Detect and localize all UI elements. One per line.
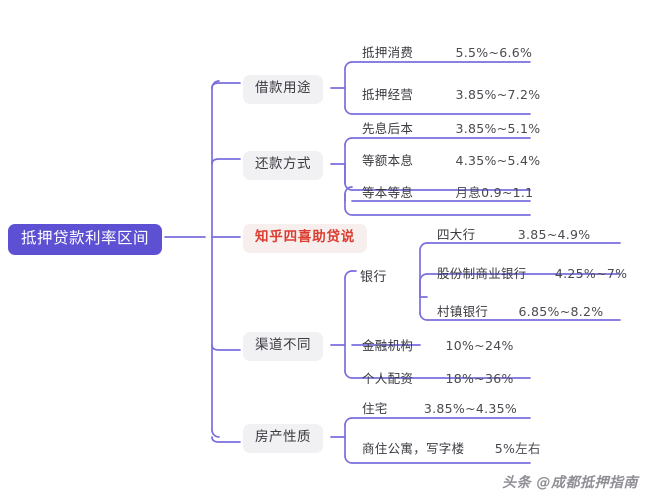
leaf-label: 等额本息 (362, 153, 413, 168)
leaf-value: 3.85%~4.35% (424, 401, 517, 416)
leaf-node[interactable]: 股份制商业银行 4.25%~7% (433, 265, 631, 287)
leaf-value: 4.25%~7% (555, 266, 627, 281)
leaf-label: 抵押消费 (362, 45, 413, 60)
branch-node-loan-purpose[interactable]: 借款用途 (243, 75, 323, 104)
leaf-node[interactable]: 等本等息 月息0.9~1.1 (358, 184, 537, 206)
leaf-label: 商住公寓，写字楼 (362, 441, 464, 456)
leaf-value: 6.85%~8.2% (518, 304, 603, 319)
leaf-node[interactable]: 抵押经营 3.85%~7.2% (358, 86, 544, 108)
leaf-node[interactable]: 等额本息 4.35%~5.4% (358, 152, 544, 174)
leaf-value: 月息0.9~1.1 (455, 185, 533, 200)
leaf-node[interactable]: 个人配资 18%~36% (358, 370, 518, 392)
leaf-value: 4.35%~5.4% (455, 153, 540, 168)
mindmap-canvas: 抵押贷款利率区间 借款用途 还款方式 知乎四喜助贷说 渠道不同 房产性质 抵押消… (0, 0, 650, 500)
leaf-label: 股份制商业银行 (437, 266, 527, 281)
leaf-node[interactable]: 商住公寓，写字楼 5%左右 (358, 440, 545, 462)
leaf-value: 10%~24% (445, 338, 513, 353)
leaf-value: 5.5%~6.6% (455, 45, 532, 60)
branch-node-brand-note[interactable]: 知乎四喜助贷说 (243, 224, 367, 253)
leaf-label: 村镇银行 (437, 304, 488, 319)
leaf-value: 5%左右 (495, 441, 541, 456)
leaf-label: 金融机构 (362, 338, 413, 353)
leaf-value: 3.85~4.9% (518, 227, 591, 242)
group-node-bank[interactable]: 银行 (358, 268, 389, 289)
branch-node-repayment-method[interactable]: 还款方式 (243, 151, 323, 180)
leaf-value: 3.85%~7.2% (455, 87, 540, 102)
leaf-label: 先息后本 (362, 121, 413, 136)
leaf-value: 3.85%~5.1% (455, 121, 540, 136)
leaf-node[interactable]: 先息后本 3.85%~5.1% (358, 120, 544, 142)
leaf-node[interactable]: 金融机构 10%~24% (358, 337, 518, 359)
branch-node-property-type[interactable]: 房产性质 (243, 424, 323, 453)
leaf-node[interactable]: 抵押消费 5.5%~6.6% (358, 44, 536, 66)
leaf-label: 等本等息 (362, 185, 413, 200)
leaf-node[interactable]: 住宅 3.85%~4.35% (358, 400, 521, 422)
leaf-label: 住宅 (362, 401, 388, 416)
leaf-value: 18%~36% (445, 371, 513, 386)
leaf-label: 个人配资 (362, 371, 413, 386)
leaf-node[interactable]: 村镇银行 6.85%~8.2% (433, 303, 607, 325)
branch-node-channel[interactable]: 渠道不同 (243, 332, 323, 361)
leaf-label: 抵押经营 (362, 87, 413, 102)
leaf-label: 四大行 (437, 227, 475, 242)
watermark-credit: 头条 @成都抵押指南 (502, 472, 638, 492)
leaf-node[interactable]: 四大行 3.85~4.9% (433, 226, 594, 248)
root-node[interactable]: 抵押贷款利率区间 (8, 224, 162, 255)
